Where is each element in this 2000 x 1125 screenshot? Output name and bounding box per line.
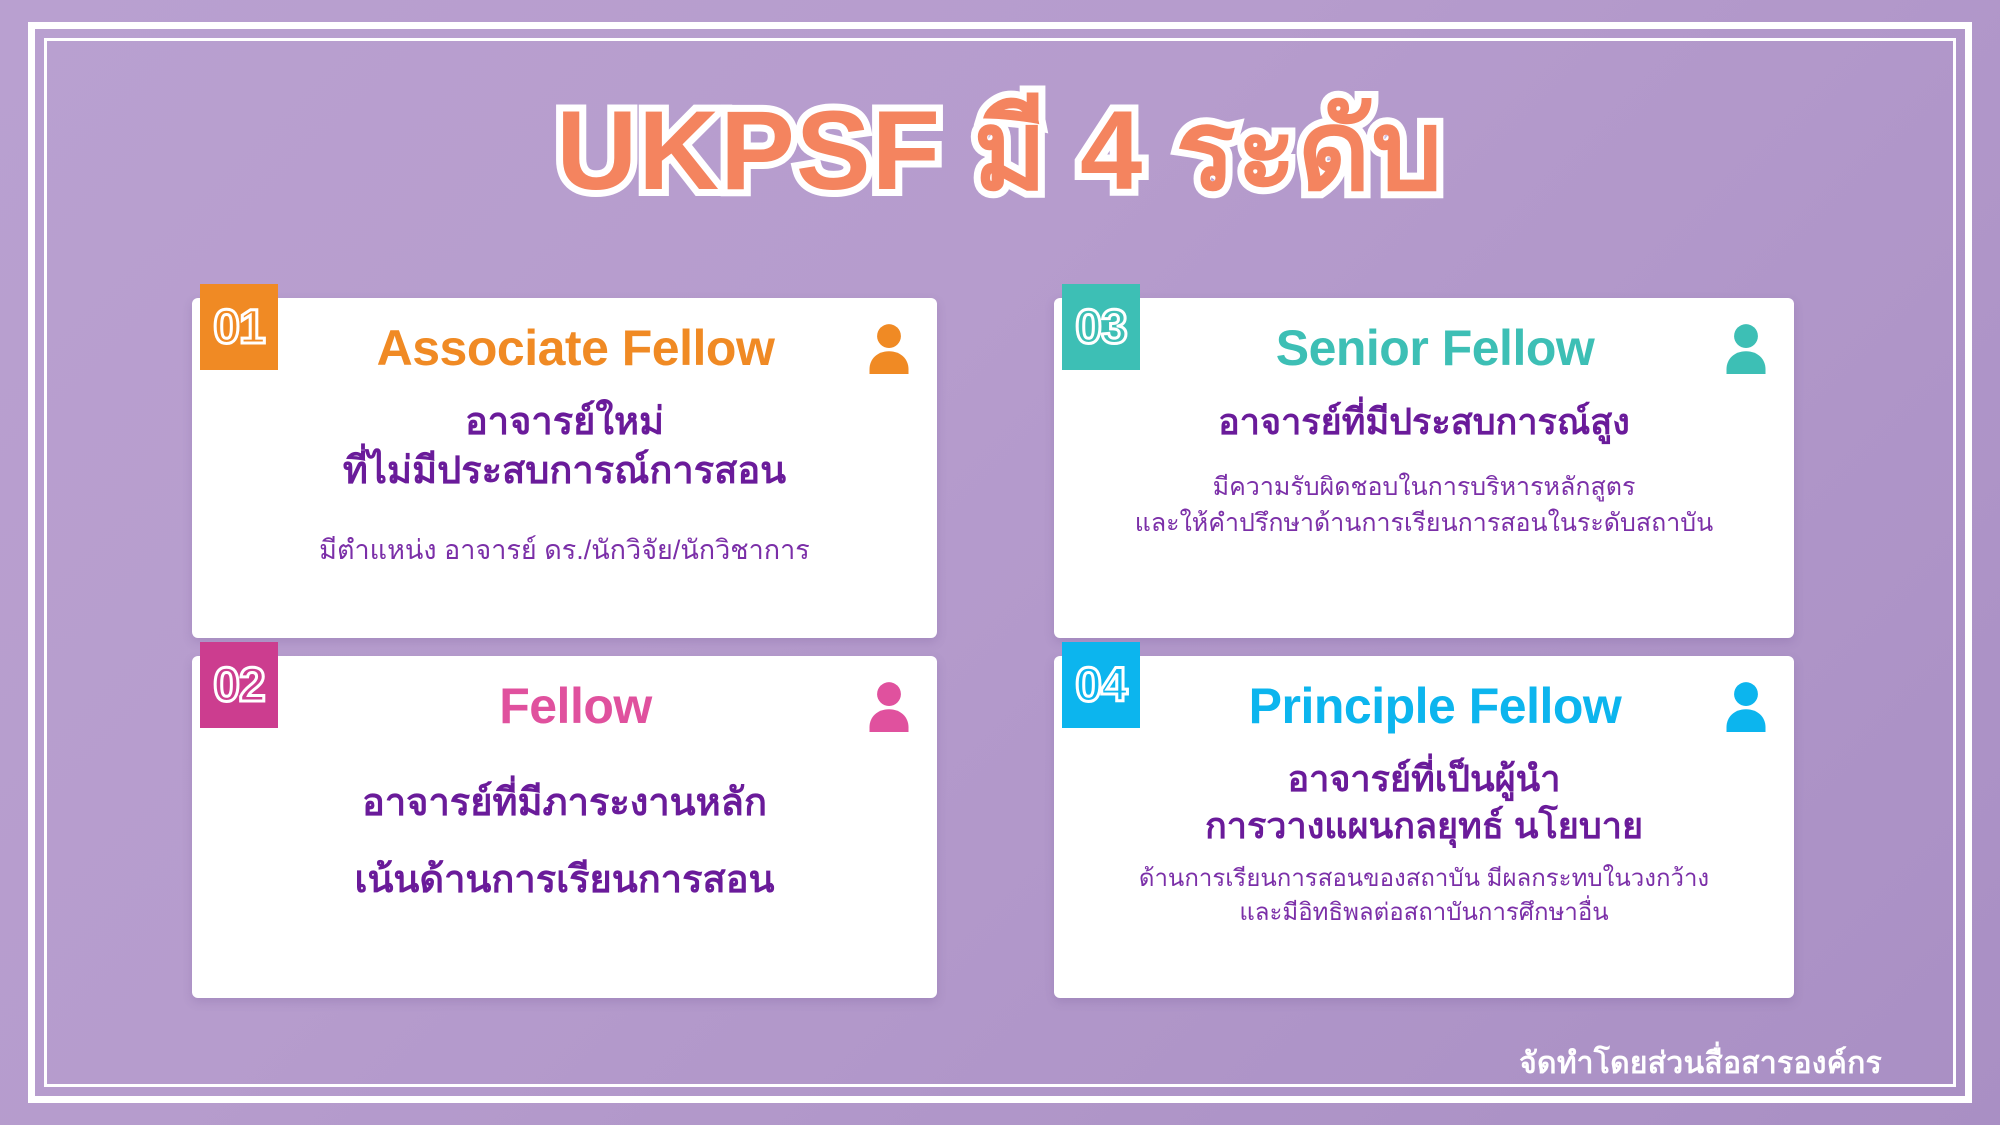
level-title-03: Senior Fellow [1154, 319, 1716, 377]
card-header-04: Principle Fellow [1054, 656, 1794, 756]
level-lead-line2-01: ที่ไม่มีประสบการณ์การสอน [216, 447, 913, 496]
level-sub-line1-03: มีความรับผิดชอบในการบริหารหลักสูตร [1078, 469, 1770, 505]
card-body-04: อาจารย์ที่เป็นผู้นำ การวางแผนกลยุทธ์ นโย… [1054, 756, 1794, 931]
person-icon [1724, 322, 1768, 374]
infographic-poster: UKPSF มี 4 ระดับ 01 Associate Fellow อาจ… [0, 0, 2000, 1125]
level-title-04: Principle Fellow [1154, 677, 1716, 735]
level-lead-line2-04: การวางแผนกลยุทธ์ นโยบาย [1078, 803, 1770, 850]
level-title-01: Associate Fellow [292, 319, 859, 377]
levels-grid: 01 Associate Fellow อาจารย์ใหม่ ที่ไม่มี… [192, 298, 1808, 998]
level-lead-line1-01: อาจารย์ใหม่ [216, 398, 913, 447]
level-sub-line1-04: ด้านการเรียนการสอนของสถาบัน มีผลกระทบในว… [1078, 862, 1770, 897]
level-card-associate-fellow[interactable]: 01 Associate Fellow อาจารย์ใหม่ ที่ไม่มี… [192, 298, 937, 638]
level-number-badge-02: 02 [200, 642, 278, 728]
level-lead-line2-02: เน้นด้านการเรียนการสอน [216, 851, 913, 910]
level-title-02: Fellow [292, 677, 859, 735]
level-card-fellow[interactable]: 02 Fellow อาจารย์ที่มีภาระงานหลัก เน้นด้… [192, 656, 937, 998]
card-body-02: อาจารย์ที่มีภาระงานหลัก เน้นด้านการเรียน… [192, 774, 937, 910]
footer-credit: จัดทำโดยส่วนสื่อสารองค์กร [1519, 1040, 1882, 1087]
person-icon [867, 322, 911, 374]
poster-title-container: UKPSF มี 4 ระดับ [0, 88, 2000, 213]
card-body-01: อาจารย์ใหม่ ที่ไม่มีประสบการณ์การสอน มีต… [192, 398, 937, 570]
card-header-02: Fellow [192, 656, 937, 756]
person-icon [867, 680, 911, 732]
level-card-senior-fellow[interactable]: 03 Senior Fellow อาจารย์ที่มีประสบการณ์ส… [1054, 298, 1794, 638]
level-number-badge-01: 01 [200, 284, 278, 370]
card-body-03: อาจารย์ที่มีประสบการณ์สูง มีความรับผิดชอ… [1054, 398, 1794, 541]
level-number-badge-04: 04 [1062, 642, 1140, 728]
level-sub-line2-03: และให้คำปรึกษาด้านการเรียนการสอนในระดับส… [1078, 505, 1770, 541]
level-card-principle-fellow[interactable]: 04 Principle Fellow อาจารย์ที่เป็นผู้นำ … [1054, 656, 1794, 998]
level-number-badge-03: 03 [1062, 284, 1140, 370]
level-sub-line1-01: มีตำแหน่ง อาจารย์ ดร./นักวิจัย/นักวิชากา… [216, 531, 913, 570]
poster-title: UKPSF มี 4 ระดับ [556, 88, 1443, 213]
card-header-01: Associate Fellow [192, 298, 937, 398]
level-lead-line1-02: อาจารย์ที่มีภาระงานหลัก [216, 774, 913, 833]
card-header-03: Senior Fellow [1054, 298, 1794, 398]
person-icon [1724, 680, 1768, 732]
level-sub-line2-04: และมีอิทธิพลต่อสถาบันการศึกษาอื่น [1078, 896, 1770, 931]
level-lead-line1-03: อาจารย์ที่มีประสบการณ์สูง [1078, 398, 1770, 447]
level-lead-line1-04: อาจารย์ที่เป็นผู้นำ [1078, 756, 1770, 803]
